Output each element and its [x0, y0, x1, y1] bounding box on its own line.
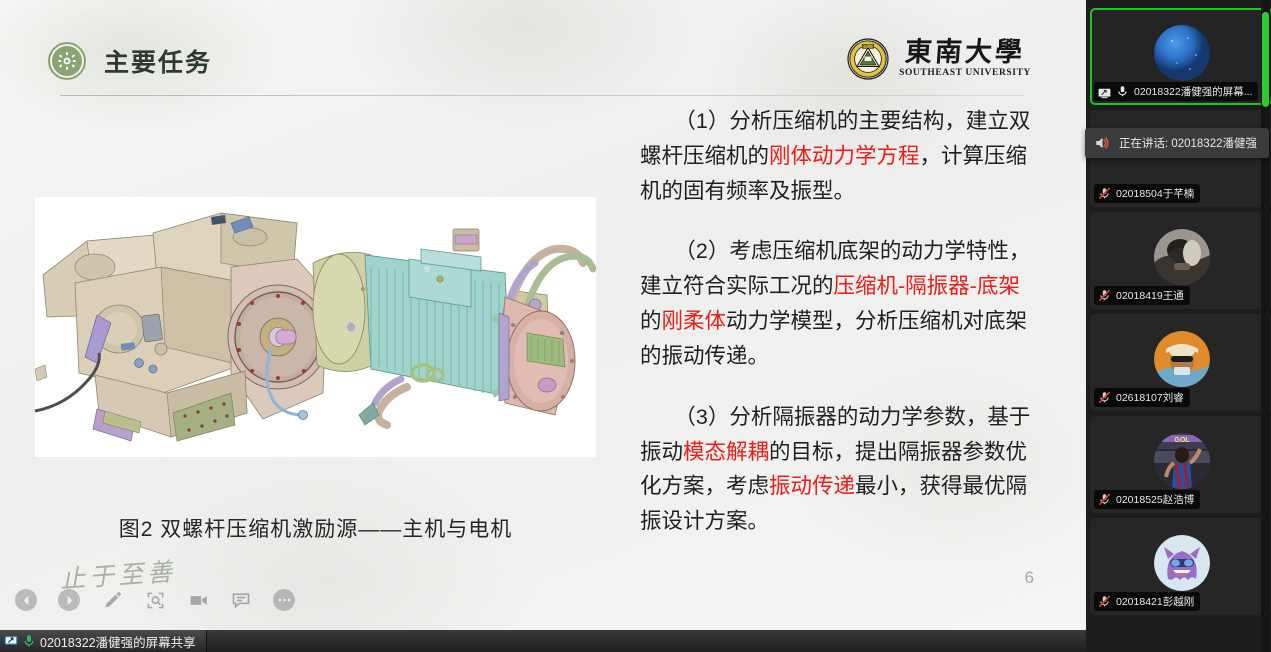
participant-name: 02018419王通 — [1116, 288, 1184, 303]
participant-name: 02018525赵浩博 — [1116, 492, 1194, 507]
microphone-muted-icon — [1098, 493, 1111, 506]
taskbar: 02018322潘健强的屏幕共享 — [0, 630, 1086, 652]
subtitle-icon[interactable] — [229, 588, 253, 612]
slide-header: 主要任务 — [48, 42, 212, 80]
participant-tile[interactable]: 02618107刘睿 — [1090, 314, 1271, 411]
speaker-active-icon — [1094, 135, 1110, 151]
avatar — [1154, 229, 1210, 285]
magnifier-region-icon[interactable] — [143, 588, 167, 612]
participant-name: 02018421彭越刚 — [1116, 594, 1194, 609]
participant-tile[interactable]: 02018322潘健强的屏幕... — [1090, 8, 1271, 105]
participant-list: 02018322潘健强的屏幕...02018504于芊楠02018419王通02… — [1090, 8, 1262, 620]
avatar: GOL — [1154, 433, 1210, 489]
svg-text:東南大學: 東南大學 — [862, 44, 874, 49]
slide-number: 6 — [1025, 568, 1034, 588]
microphone-icon — [1116, 85, 1129, 98]
university-name-cn: 東南大學 — [904, 39, 1026, 66]
screen-share-icon — [1098, 86, 1111, 97]
monitor-share-icon — [4, 634, 18, 648]
participant-tile[interactable]: GOL02018525赵浩博 — [1090, 416, 1271, 513]
highlighted-term: 振动传递 — [769, 474, 855, 498]
page-title: 主要任务 — [104, 43, 212, 79]
participant-rail: 02018322潘健强的屏幕...02018504于芊楠02018419王通02… — [1086, 0, 1271, 652]
svg-text:GOL: GOL — [1174, 437, 1190, 444]
task-paragraph-3: （3）分析隔振器的动力学参数，基于振动模态解耦的目标，提出隔振器参数优化方案，考… — [640, 400, 1035, 539]
university-name-en: SOUTHEAST UNIVERSITY — [899, 69, 1031, 79]
participant-tile[interactable]: 02018504于芊楠 — [1090, 110, 1271, 207]
university-logo: 東南大學 SOUTHEAST UNIVERSITY 東南大學 SOUTHEAST… — [847, 38, 1031, 80]
title-divider — [60, 95, 1025, 96]
university-seal-icon: 東南大學 SOUTHEAST UNIVERSITY — [847, 38, 889, 80]
scrollbar-thumb[interactable] — [1262, 12, 1269, 107]
participant-name: 02618107刘睿 — [1116, 390, 1184, 405]
participant-label: 02018322潘健强的屏幕... — [1094, 82, 1258, 101]
avatar — [1154, 331, 1210, 387]
figure-caption: 图2 双螺杆压缩机激励源——主机与电机 — [35, 513, 596, 543]
task-paragraph-2: （2）考虑压缩机底架的动力学特性，建立符合实际工况的压缩机-隔振器-底架的刚柔体… — [640, 234, 1035, 373]
participant-tile[interactable]: 02018419王通 — [1090, 212, 1271, 309]
pen-icon[interactable] — [100, 588, 124, 612]
highlighted-term: 模态解耦 — [683, 440, 769, 464]
avatar — [1154, 25, 1210, 81]
taskbar-screenshare-item[interactable]: 02018322潘健强的屏幕共享 — [0, 630, 207, 652]
microphone-muted-icon — [1098, 391, 1111, 404]
participant-name: 02018322潘健强的屏幕... — [1134, 84, 1252, 99]
participant-label: 02018525赵浩博 — [1094, 490, 1200, 509]
figure-image — [35, 197, 596, 457]
slide-body-text: （1）分析压缩机的主要结构，建立双螺杆压缩机的刚体动力学方程，计算压缩机的固有频… — [640, 104, 1035, 539]
taskbar-item-label: 02018322潘健强的屏幕共享 — [40, 632, 196, 651]
shared-slide-area: 主要任务 東南大學 — [0, 0, 1086, 630]
highlighted-term: 刚体动力学方程 — [769, 144, 920, 168]
ellipsis-icon[interactable] — [272, 588, 296, 612]
participant-tile[interactable]: 02018421彭越刚 — [1090, 518, 1271, 615]
participant-scrollbar[interactable] — [1261, 0, 1270, 652]
participant-label: 02018504于芊楠 — [1094, 184, 1200, 203]
speaking-notification: 正在讲话: 02018322潘健强 — [1085, 128, 1269, 158]
microphone-icon — [22, 634, 36, 648]
presentation-controls — [14, 588, 296, 612]
speaking-label: 正在讲话: 02018322潘健强 — [1119, 135, 1257, 151]
highlighted-term: 压缩机-隔振器-底架 — [834, 274, 1020, 298]
previous-slide-button[interactable] — [14, 588, 38, 612]
next-slide-button[interactable] — [57, 588, 81, 612]
participant-label: 02018419王通 — [1094, 286, 1190, 305]
task-paragraph-1: （1）分析压缩机的主要结构，建立双螺杆压缩机的刚体动力学方程，计算压缩机的固有频… — [640, 104, 1035, 208]
highlighted-term: 刚柔体 — [662, 309, 727, 333]
participant-label: 02618107刘睿 — [1094, 388, 1190, 407]
gear-icon — [48, 42, 86, 80]
participant-label: 02018421彭越刚 — [1094, 592, 1200, 611]
avatar — [1154, 535, 1210, 591]
microphone-muted-icon — [1098, 289, 1111, 302]
participant-name: 02018504于芊楠 — [1116, 186, 1194, 201]
microphone-muted-icon — [1098, 187, 1111, 200]
microphone-muted-icon — [1098, 595, 1111, 608]
screen-share-meeting-window: 主要任务 東南大學 — [0, 0, 1271, 652]
video-camera-icon[interactable] — [186, 588, 210, 612]
paragraph-text: 的 — [640, 309, 662, 333]
